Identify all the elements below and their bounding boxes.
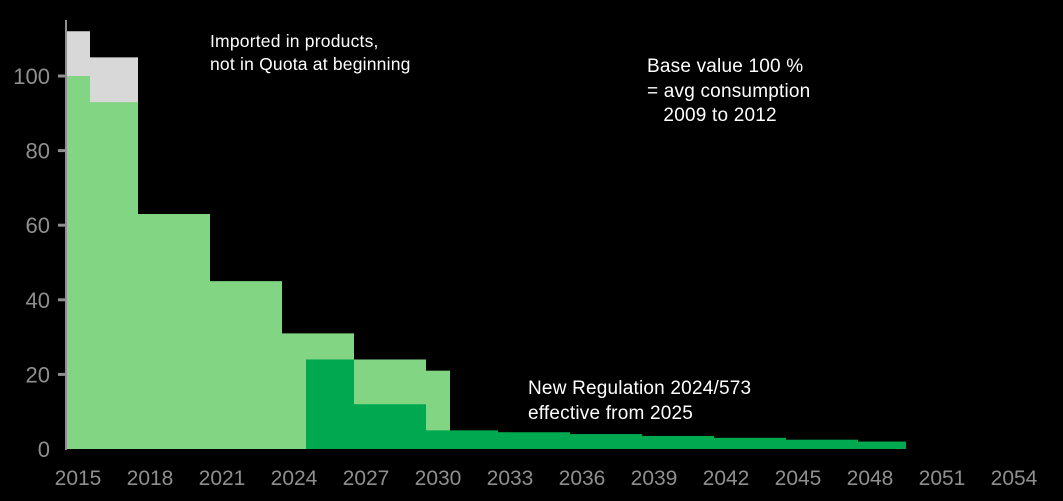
step-bar <box>642 436 714 449</box>
y-tick-label: 100 <box>13 64 50 89</box>
step-bar <box>66 76 90 449</box>
step-bar <box>210 281 282 449</box>
step-bar <box>858 442 906 449</box>
y-tick-label: 20 <box>26 362 50 387</box>
y-tick-label: 40 <box>26 288 50 313</box>
step-bar <box>570 434 642 449</box>
step-bar <box>306 359 354 449</box>
annotation-new-regulation: New Regulation 2024/573 effective from 2… <box>528 377 751 426</box>
chart-canvas: 020406080100 201520182021202420272030203… <box>0 0 1063 501</box>
x-tick-label: 2033 <box>487 467 534 490</box>
y-tick-label: 60 <box>26 213 50 238</box>
step-bar <box>354 404 426 449</box>
step-bar <box>138 214 210 449</box>
x-tick-label: 2018 <box>127 467 174 490</box>
annotation-base-value: Base value 100 % = avg consumption 2009 … <box>647 55 810 129</box>
step-bar <box>714 438 786 449</box>
x-tick-label: 2030 <box>415 467 462 490</box>
annotation-imported-in-products: Imported in products, not in Quota at be… <box>210 30 411 76</box>
step-bar <box>90 102 138 449</box>
x-tick-label: 2042 <box>703 467 750 490</box>
x-tick-label: 2015 <box>55 467 102 490</box>
x-tick-label: 2054 <box>991 467 1038 490</box>
x-tick-label: 2051 <box>919 467 966 490</box>
x-tick-label: 2045 <box>775 467 822 490</box>
step-bar <box>426 430 498 449</box>
x-tick-label: 2021 <box>199 467 246 490</box>
x-tick-label: 2024 <box>271 467 318 490</box>
step-bar <box>786 440 858 449</box>
x-tick-label: 2048 <box>847 467 894 490</box>
y-tick-label: 0 <box>38 437 50 462</box>
x-tick-label: 2039 <box>631 467 678 490</box>
x-tick-label: 2036 <box>559 467 606 490</box>
x-tick-label: 2027 <box>343 467 390 490</box>
step-bar <box>498 432 570 449</box>
y-tick-label: 80 <box>26 139 50 164</box>
